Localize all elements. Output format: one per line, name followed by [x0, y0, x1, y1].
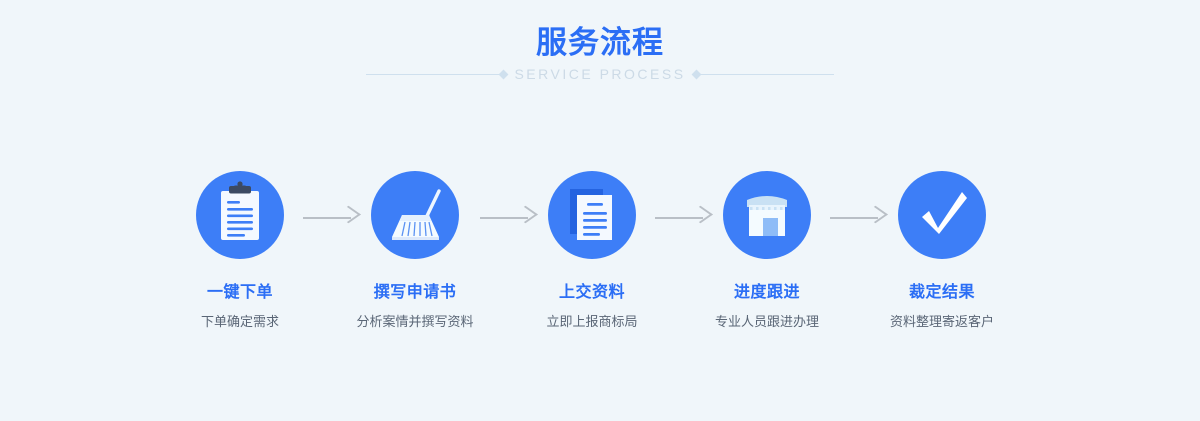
process-step-2[interactable]: 撰写申请书 分析案情并撰写资料	[327, 160, 503, 331]
process-step-1[interactable]: 一键下单 下单确定需求	[152, 160, 328, 331]
step-desc-2: 分析案情并撰写资料	[327, 313, 503, 331]
documents-icon	[548, 171, 636, 259]
page-title: 服务流程	[0, 23, 1200, 63]
divider-line-left	[366, 74, 504, 75]
clipboard-icon	[196, 171, 284, 259]
step-desc-3: 立即上报商标局	[504, 313, 680, 331]
step-icon-circle-3	[548, 171, 636, 259]
step-desc-4: 专业人员跟进办理	[679, 313, 855, 331]
storefront-icon	[723, 171, 811, 259]
process-step-4[interactable]: 进度跟进 专业人员跟进办理	[679, 160, 855, 331]
divider-line-right	[696, 74, 834, 75]
page-header: 服务流程 SERVICE PROCESS	[0, 0, 1200, 110]
step-title-2: 撰写申请书	[327, 282, 503, 304]
process-steps: 一键下单 下单确定需求 撰写申请书	[0, 160, 1200, 330]
process-step-3[interactable]: 上交资料 立即上报商标局	[504, 160, 680, 331]
step-title-4: 进度跟进	[679, 282, 855, 304]
check-icon	[898, 171, 986, 259]
step-icon-circle-4	[723, 171, 811, 259]
broom-icon	[371, 171, 459, 259]
step-title-5: 裁定结果	[854, 282, 1030, 304]
step-icon-circle-1	[196, 171, 284, 259]
step-icon-circle-5	[898, 171, 986, 259]
process-step-5[interactable]: 裁定结果 资料整理寄返客户	[854, 160, 1030, 331]
step-title-3: 上交资料	[504, 282, 680, 304]
page-subtitle: SERVICE PROCESS	[0, 64, 1200, 84]
step-icon-circle-2	[371, 171, 459, 259]
step-desc-1: 下单确定需求	[152, 313, 328, 331]
step-title-1: 一键下单	[152, 282, 328, 304]
step-desc-5: 资料整理寄返客户	[854, 313, 1030, 331]
